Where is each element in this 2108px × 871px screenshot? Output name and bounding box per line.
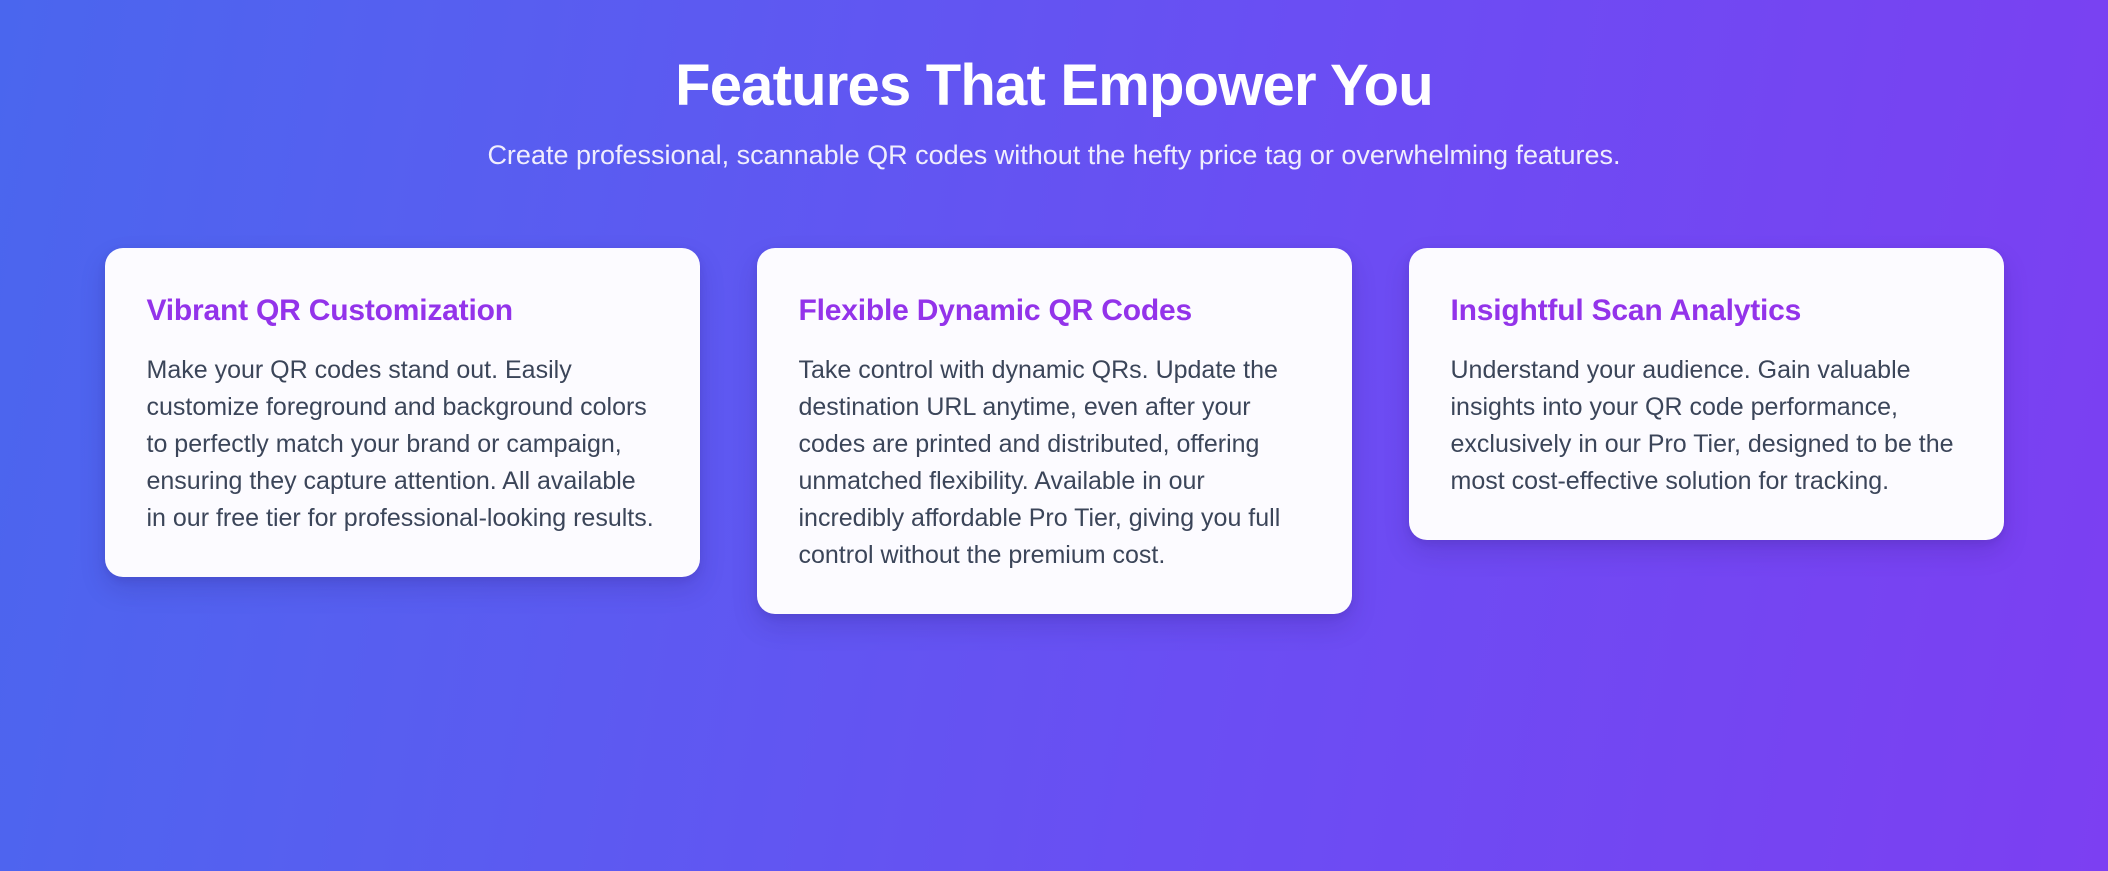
feature-card-vibrant-qr-customization[interactable]: Vibrant QR Customization Make your QR co… <box>105 248 700 577</box>
feature-card-insightful-scan-analytics[interactable]: Insightful Scan Analytics Understand you… <box>1409 248 2004 540</box>
feature-card-body: Take control with dynamic QRs. Update th… <box>799 352 1310 574</box>
feature-card-title: Vibrant QR Customization <box>147 292 658 330</box>
feature-card-body: Understand your audience. Gain valuable … <box>1451 352 1962 500</box>
feature-card-flexible-dynamic-qr-codes[interactable]: Flexible Dynamic QR Codes Take control w… <box>757 248 1352 614</box>
feature-card-list: Vibrant QR Customization Make your QR co… <box>104 248 2004 614</box>
feature-card-title: Flexible Dynamic QR Codes <box>799 292 1310 330</box>
features-section: Features That Empower You Create profess… <box>0 0 2108 871</box>
feature-card-title: Insightful Scan Analytics <box>1451 292 1962 330</box>
feature-card-body: Make your QR codes stand out. Easily cus… <box>147 352 658 537</box>
page-subtitle: Create professional, scannable QR codes … <box>487 136 1620 174</box>
page-title: Features That Empower You <box>675 54 1433 119</box>
